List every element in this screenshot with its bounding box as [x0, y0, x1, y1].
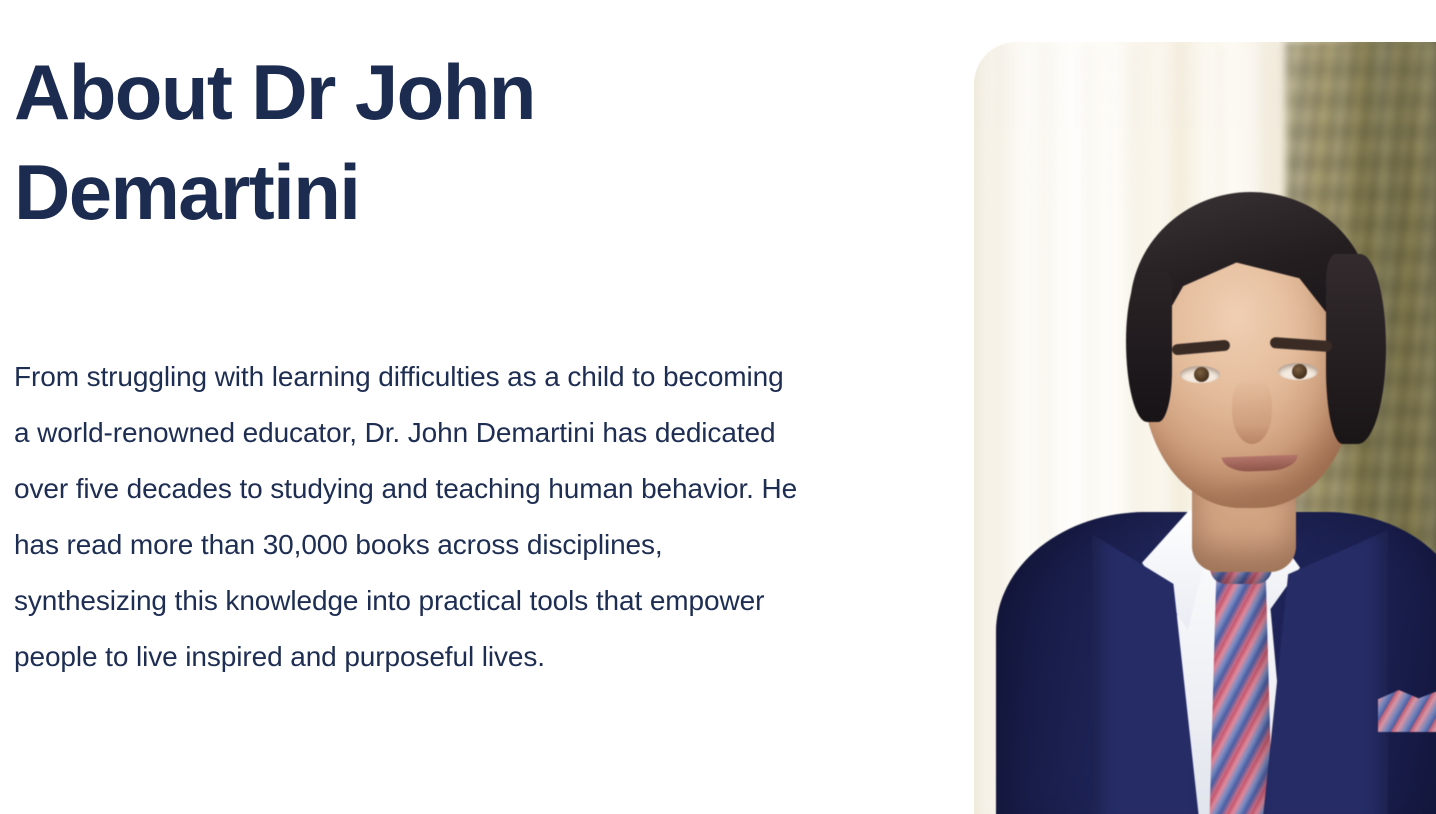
about-section: About Dr John Demartini From struggling …	[0, 0, 1436, 814]
hair-side-left	[1126, 272, 1172, 422]
page-title: About Dr John Demartini	[14, 42, 654, 242]
chin-shadow	[1210, 480, 1310, 510]
pocket-square	[1378, 690, 1436, 732]
text-column: About Dr John Demartini From struggling …	[14, 0, 814, 814]
iris-right	[1292, 364, 1307, 379]
hair-side-right	[1326, 254, 1386, 444]
portrait-image	[974, 42, 1436, 814]
portrait-backdrop	[974, 42, 1436, 814]
iris-left	[1194, 367, 1209, 382]
nose	[1232, 378, 1272, 444]
about-paragraph: From struggling with learning difficulti…	[14, 349, 804, 685]
